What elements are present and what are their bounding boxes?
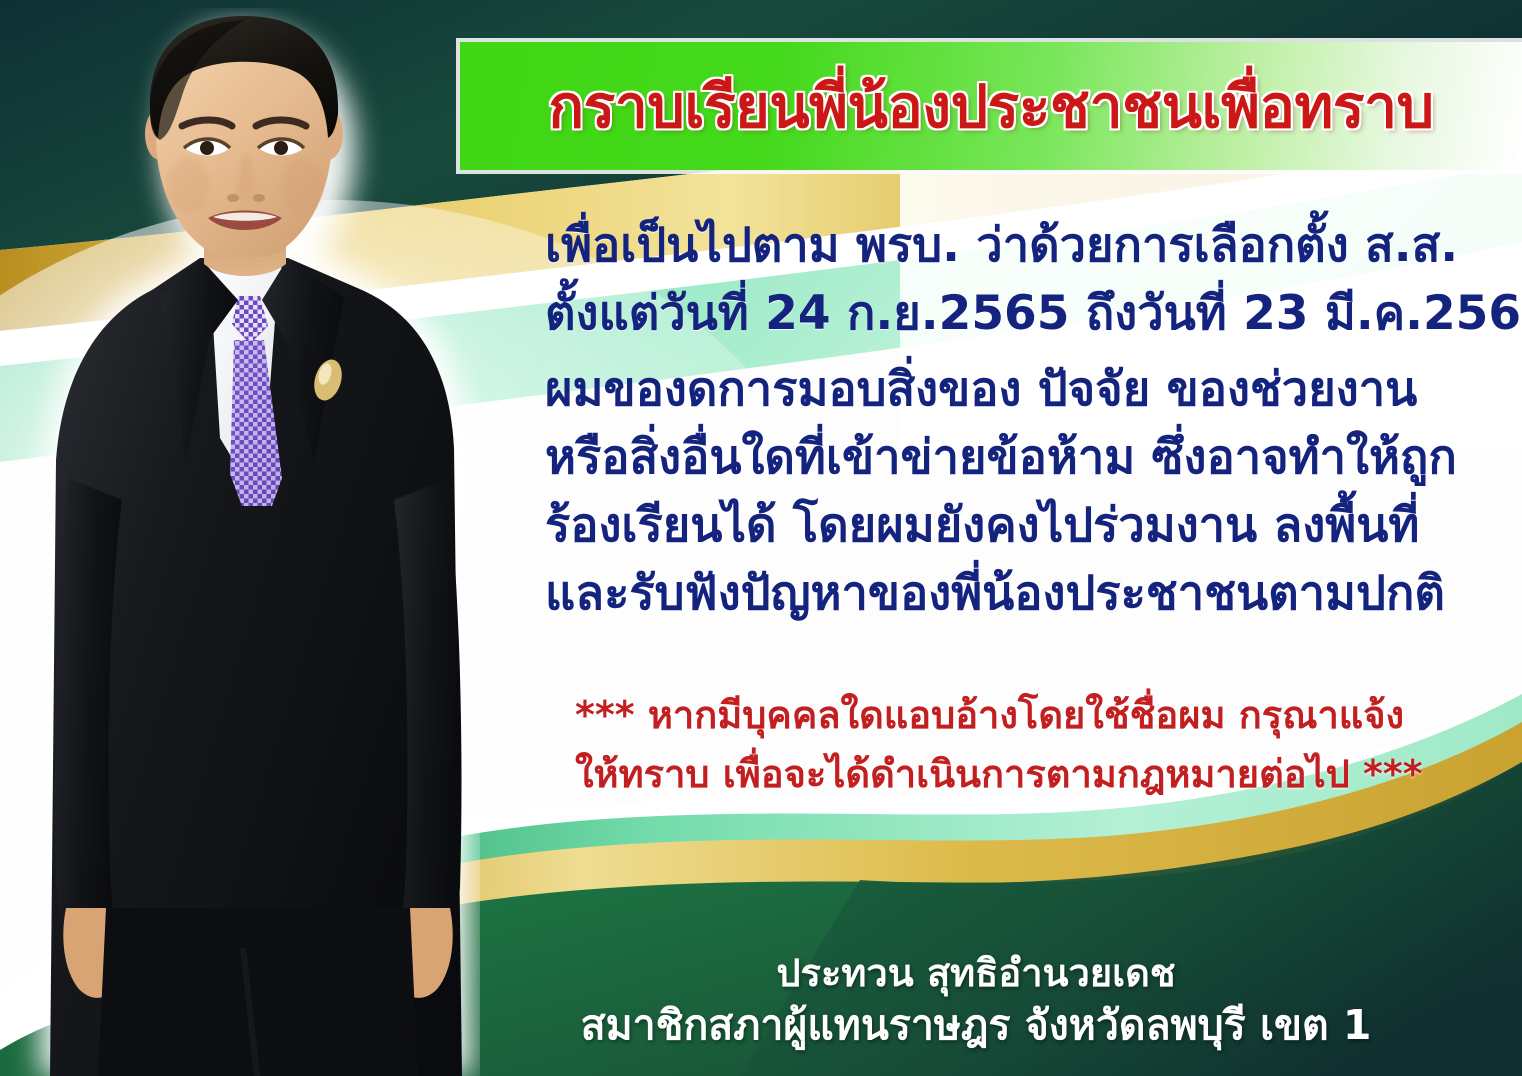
body-line-2: ตั้งแต่วันที่ 24 ก.ย.2565 ถึงวันที่ 23 ม… — [545, 280, 1475, 348]
announcement-poster: กราบเรียนพี่น้องประชาชนเพื่อทราบ เพื่อเป… — [0, 0, 1522, 1076]
cheek-shadow-right — [280, 158, 324, 214]
signature-block: ประทวน สุทธิอำนวยเดช สมาชิกสภาผู้แทนราษฎ… — [430, 948, 1522, 1052]
body-line-3: ผมของดการมอบสิ่งของ ปัจจัย ของช่วยงาน — [545, 356, 1475, 424]
title-banner: กราบเรียนพี่น้องประชาชนเพื่อทราบ — [460, 42, 1522, 170]
note-line-2: ให้ทราบ เพื่อจะได้ดำเนินการตามกฎหมายต่อไ… — [575, 745, 1475, 804]
nostril-left — [227, 194, 239, 202]
signer-name: ประทวน สุทธิอำนวยเดช — [430, 948, 1522, 998]
cheek-shadow-left — [166, 158, 210, 214]
signer-title: สมาชิกสภาผู้แทนราษฎร จังหวัดลพบุรี เขต 1 — [430, 998, 1522, 1052]
trousers — [98, 908, 418, 1076]
announcement-body: เพื่อเป็นไปตาม พรบ. ว่าด้วยการเลือกตั้ง … — [545, 212, 1475, 628]
body-line-6: และรับฟังปัญหาของพี่น้องประชาชนตามปกติ — [545, 560, 1475, 628]
portrait-illustration — [10, 8, 480, 1076]
pupil-right — [274, 141, 288, 155]
body-line-4: หรือสิ่งอื่นใดที่เข้าข่ายข้อห้าม ซึ่งอาจ… — [545, 424, 1475, 492]
banner-title: กราบเรียนพี่น้องประชาชนเพื่อทราบ — [530, 77, 1451, 136]
nostril-right — [253, 194, 265, 202]
body-line-1: เพื่อเป็นไปตาม พรบ. ว่าด้วยการเลือกตั้ง … — [545, 212, 1475, 280]
portrait-photo — [10, 8, 480, 1076]
warning-note: *** หากมีบุคคลใดแอบอ้างโดยใช้ชื่อผม กรุณ… — [575, 686, 1475, 804]
note-line-1: *** หากมีบุคคลใดแอบอ้างโดยใช้ชื่อผม กรุณ… — [575, 686, 1475, 745]
body-line-5: ร้องเรียนได้ โดยผมยังคงไปร่วมงาน ลงพื้นท… — [545, 492, 1475, 560]
pupil-left — [200, 141, 214, 155]
